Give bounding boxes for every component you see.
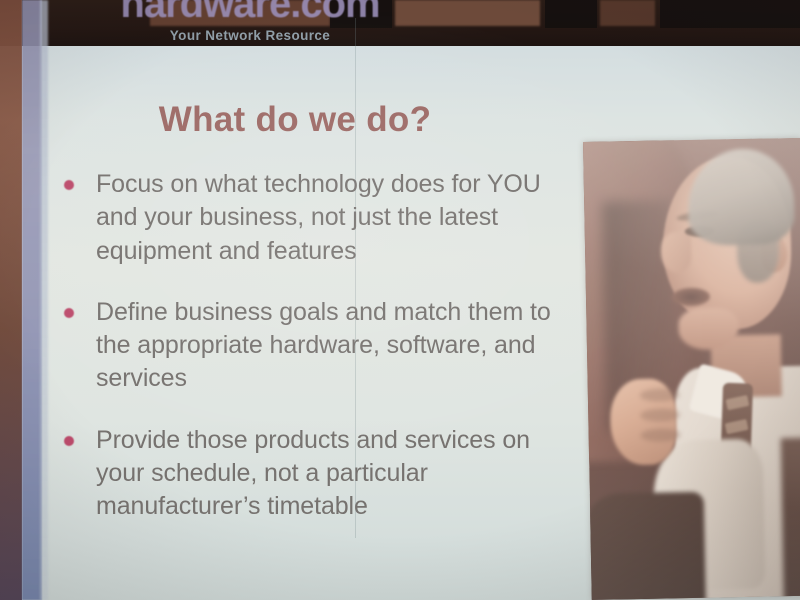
brand-logo-text: hardware.com bbox=[90, 0, 410, 24]
bullet-dot-icon bbox=[64, 308, 74, 318]
list-item: Define business goals and match them to … bbox=[56, 296, 556, 396]
ceiling-shadow bbox=[660, 0, 800, 28]
photo-projector-wash bbox=[583, 138, 800, 600]
left-wall-edge bbox=[0, 0, 22, 600]
ceiling-panel bbox=[600, 0, 655, 26]
bullet-list: Focus on what technology does for YOU an… bbox=[56, 168, 556, 551]
left-screen-strip bbox=[22, 0, 42, 600]
ceiling-shadow bbox=[545, 0, 597, 28]
speaker-photo bbox=[583, 138, 800, 600]
bullet-dot-icon bbox=[64, 436, 74, 446]
list-item: Provide those products and services on y… bbox=[56, 424, 556, 524]
slide-title: What do we do? bbox=[60, 100, 530, 140]
list-item-text: Provide those products and services on y… bbox=[96, 426, 530, 521]
bullet-dot-icon bbox=[64, 180, 74, 190]
brand-tagline: Your Network Resource bbox=[90, 28, 410, 43]
left-screen-highlight bbox=[40, 0, 48, 600]
list-item-text: Define business goals and match them to … bbox=[96, 298, 551, 393]
ceiling-panel bbox=[395, 0, 540, 26]
list-item-text: Focus on what technology does for YOU an… bbox=[96, 170, 541, 265]
list-item: Focus on what technology does for YOU an… bbox=[56, 168, 556, 268]
brand-logo: hardware.com Your Network Resource bbox=[90, 0, 410, 43]
projected-slide-photo: hardware.com Your Network Resource What … bbox=[0, 0, 800, 600]
